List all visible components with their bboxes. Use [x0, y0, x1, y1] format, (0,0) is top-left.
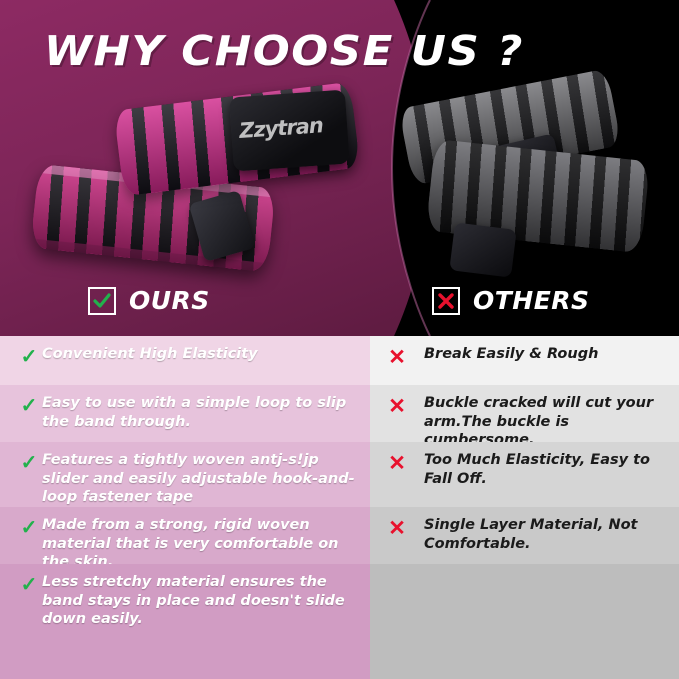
check-glyph — [92, 291, 112, 311]
comparison-table: ✓ Convenient High Elasticity ✕ Break Eas… — [0, 336, 679, 679]
cell-others-text: Single Layer Material, Not Comfortable. — [424, 516, 671, 553]
cell-ours: ✓ Easy to use with a simple loop to slip… — [0, 385, 370, 442]
check-icon: ✓ — [16, 347, 42, 367]
cell-ours-text: Easy to use with a simple loop to slip t… — [42, 394, 362, 431]
cross-glyph — [436, 291, 456, 311]
cell-ours: ✓ Made from a strong, rigid woven materi… — [0, 507, 370, 564]
column-headers: OURS OTHERS — [0, 286, 679, 336]
cross-icon: ✕ — [384, 396, 410, 417]
cell-ours-text: Convenient High Elasticity — [42, 345, 258, 364]
cell-ours: ✓ Less stretchy material ensures the ban… — [0, 564, 370, 679]
product-others-buckle-bottom — [449, 222, 516, 277]
cell-others: ✕ Too Much Elasticity, Easy to Fall Off. — [370, 442, 679, 507]
check-icon: ✓ — [16, 396, 42, 416]
check-icon: ✓ — [16, 518, 42, 538]
cell-others: ✕ Single Layer Material, Not Comfortable… — [370, 507, 679, 564]
cell-others: ✕ Break Easily & Rough — [370, 336, 679, 385]
product-ours-slider: Zzytran — [229, 90, 350, 172]
column-header-ours-label: OURS — [129, 286, 210, 315]
cell-ours: ✓ Convenient High Elasticity — [0, 336, 370, 385]
table-row: ✓ Less stretchy material ensures the ban… — [0, 564, 679, 679]
cell-ours: ✓ Features a tightly woven antj-s!jp sli… — [0, 442, 370, 507]
column-header-others-label: OTHERS — [473, 286, 590, 315]
cross-icon — [432, 287, 460, 315]
table-row: ✓ Convenient High Elasticity ✕ Break Eas… — [0, 336, 679, 385]
cross-icon: ✕ — [384, 453, 410, 474]
column-header-ours: OURS — [88, 286, 210, 315]
column-header-others: OTHERS — [432, 286, 590, 315]
check-icon: ✓ — [16, 453, 42, 473]
cross-icon: ✕ — [384, 518, 410, 539]
brand-logo-text: Zzytran — [238, 113, 323, 143]
cell-others-text: Break Easily & Rough — [424, 345, 598, 364]
check-icon: ✓ — [16, 575, 42, 595]
table-row: ✓ Easy to use with a simple loop to slip… — [0, 385, 679, 442]
page-title: WHY CHOOSE US ? — [44, 27, 524, 75]
check-icon — [88, 287, 116, 315]
table-row: ✓ Made from a strong, rigid woven materi… — [0, 507, 679, 564]
cell-others: ✕ Buckle cracked will cut your arm.The b… — [370, 385, 679, 442]
cell-ours-text: Less stretchy material ensures the band … — [42, 573, 362, 629]
cell-others-text: Too Much Elasticity, Easy to Fall Off. — [424, 451, 671, 488]
table-row: ✓ Features a tightly woven antj-s!jp sli… — [0, 442, 679, 507]
cross-icon: ✕ — [384, 347, 410, 368]
cell-ours-text: Features a tightly woven antj-s!jp slide… — [42, 451, 362, 507]
cell-others — [370, 564, 679, 679]
comparison-infographic: Zzytran WHY CHOOSE US ? OURS — [0, 0, 679, 679]
